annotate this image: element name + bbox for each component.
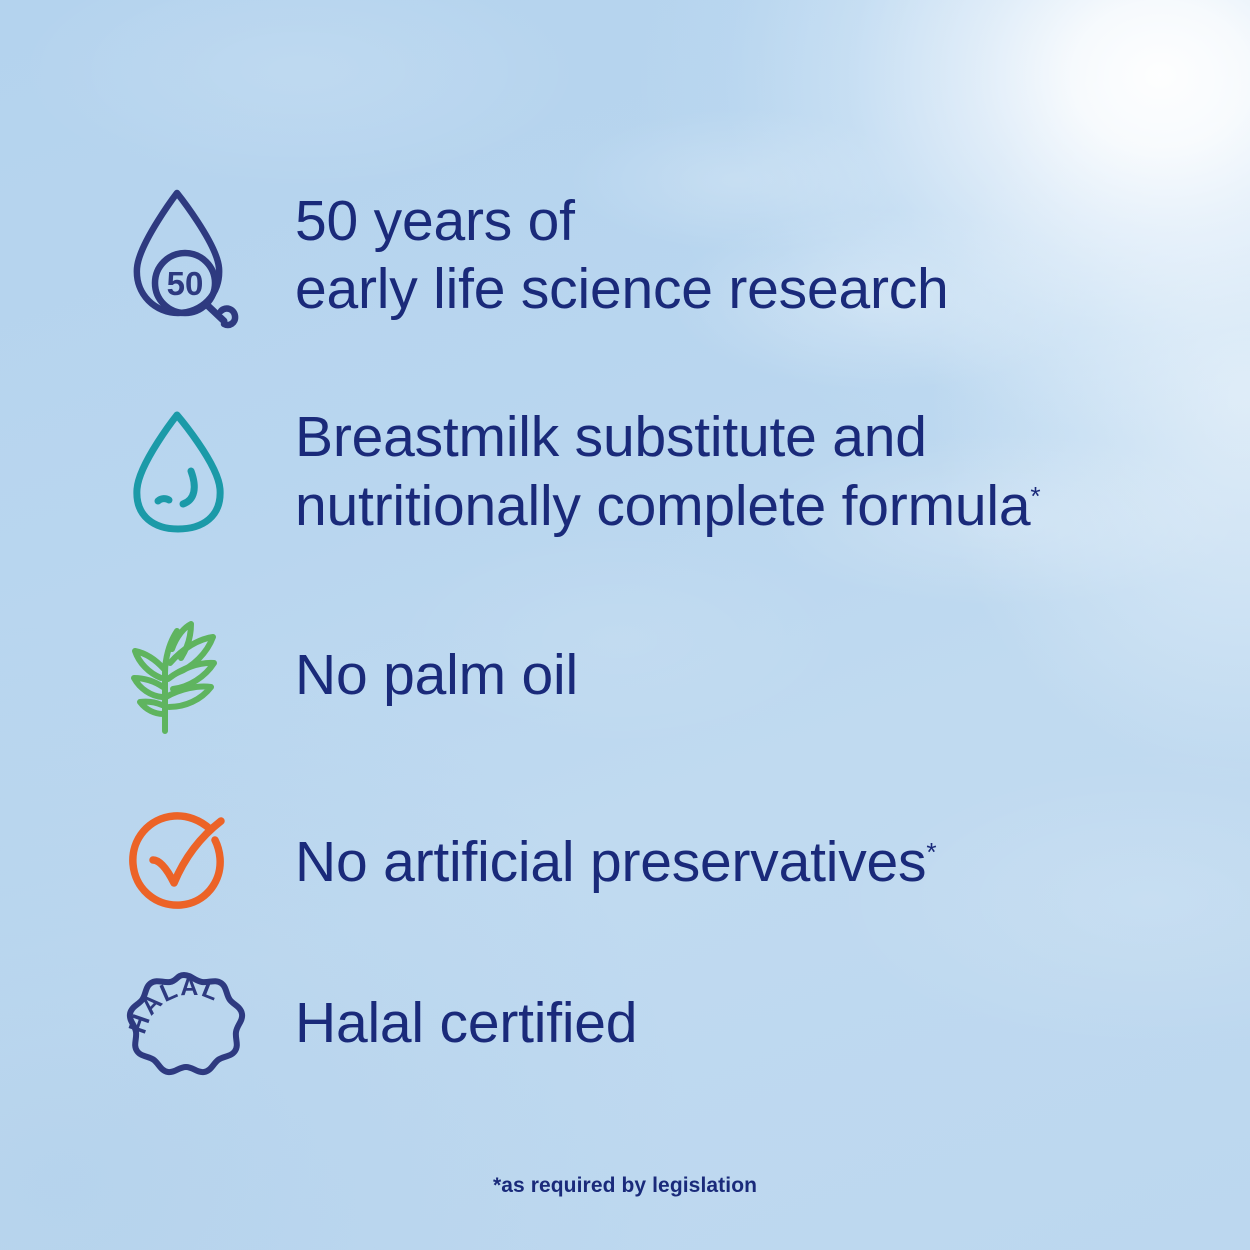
benefit-item-no-palm-oil: No palm oil	[125, 579, 1195, 771]
benefit-text-no-palm-oil: No palm oil	[295, 641, 1195, 709]
benefit-item-no-artificial-preservatives: No artificial preservatives*	[125, 771, 1195, 953]
benefits-list: 50 50 years of early life science resear…	[125, 146, 1195, 1093]
footnote: *as required by legislation	[0, 1174, 1250, 1198]
droplet-magnifier-50-icon: 50	[125, 185, 295, 325]
benefit-text-halal-certified: Halal certified	[295, 989, 1195, 1057]
benefit-text-breastmilk-substitute: Breastmilk substitute and nutritionally …	[295, 403, 1195, 540]
benefit-text-50-years: 50 years of early life science research	[295, 187, 1195, 324]
droplet-icon-label: 50	[167, 265, 204, 302]
halal-badge-icon: HALAL	[125, 964, 295, 1082]
check-circle-icon	[125, 805, 295, 920]
asterisk-marker: *	[1030, 481, 1040, 511]
water-droplet-icon	[125, 407, 295, 537]
asterisk-marker: *	[926, 837, 936, 867]
palm-leaf-icon	[125, 615, 295, 735]
benefit-item-50-years: 50 50 years of early life science resear…	[125, 146, 1195, 364]
benefits-panel: 50 50 years of early life science resear…	[0, 0, 1250, 1250]
benefit-item-halal-certified: HALAL Halal certified	[125, 953, 1195, 1093]
benefit-text-no-artificial-preservatives: No artificial preservatives*	[295, 828, 1195, 896]
benefit-item-breastmilk-substitute: Breastmilk substitute and nutritionally …	[125, 364, 1195, 579]
